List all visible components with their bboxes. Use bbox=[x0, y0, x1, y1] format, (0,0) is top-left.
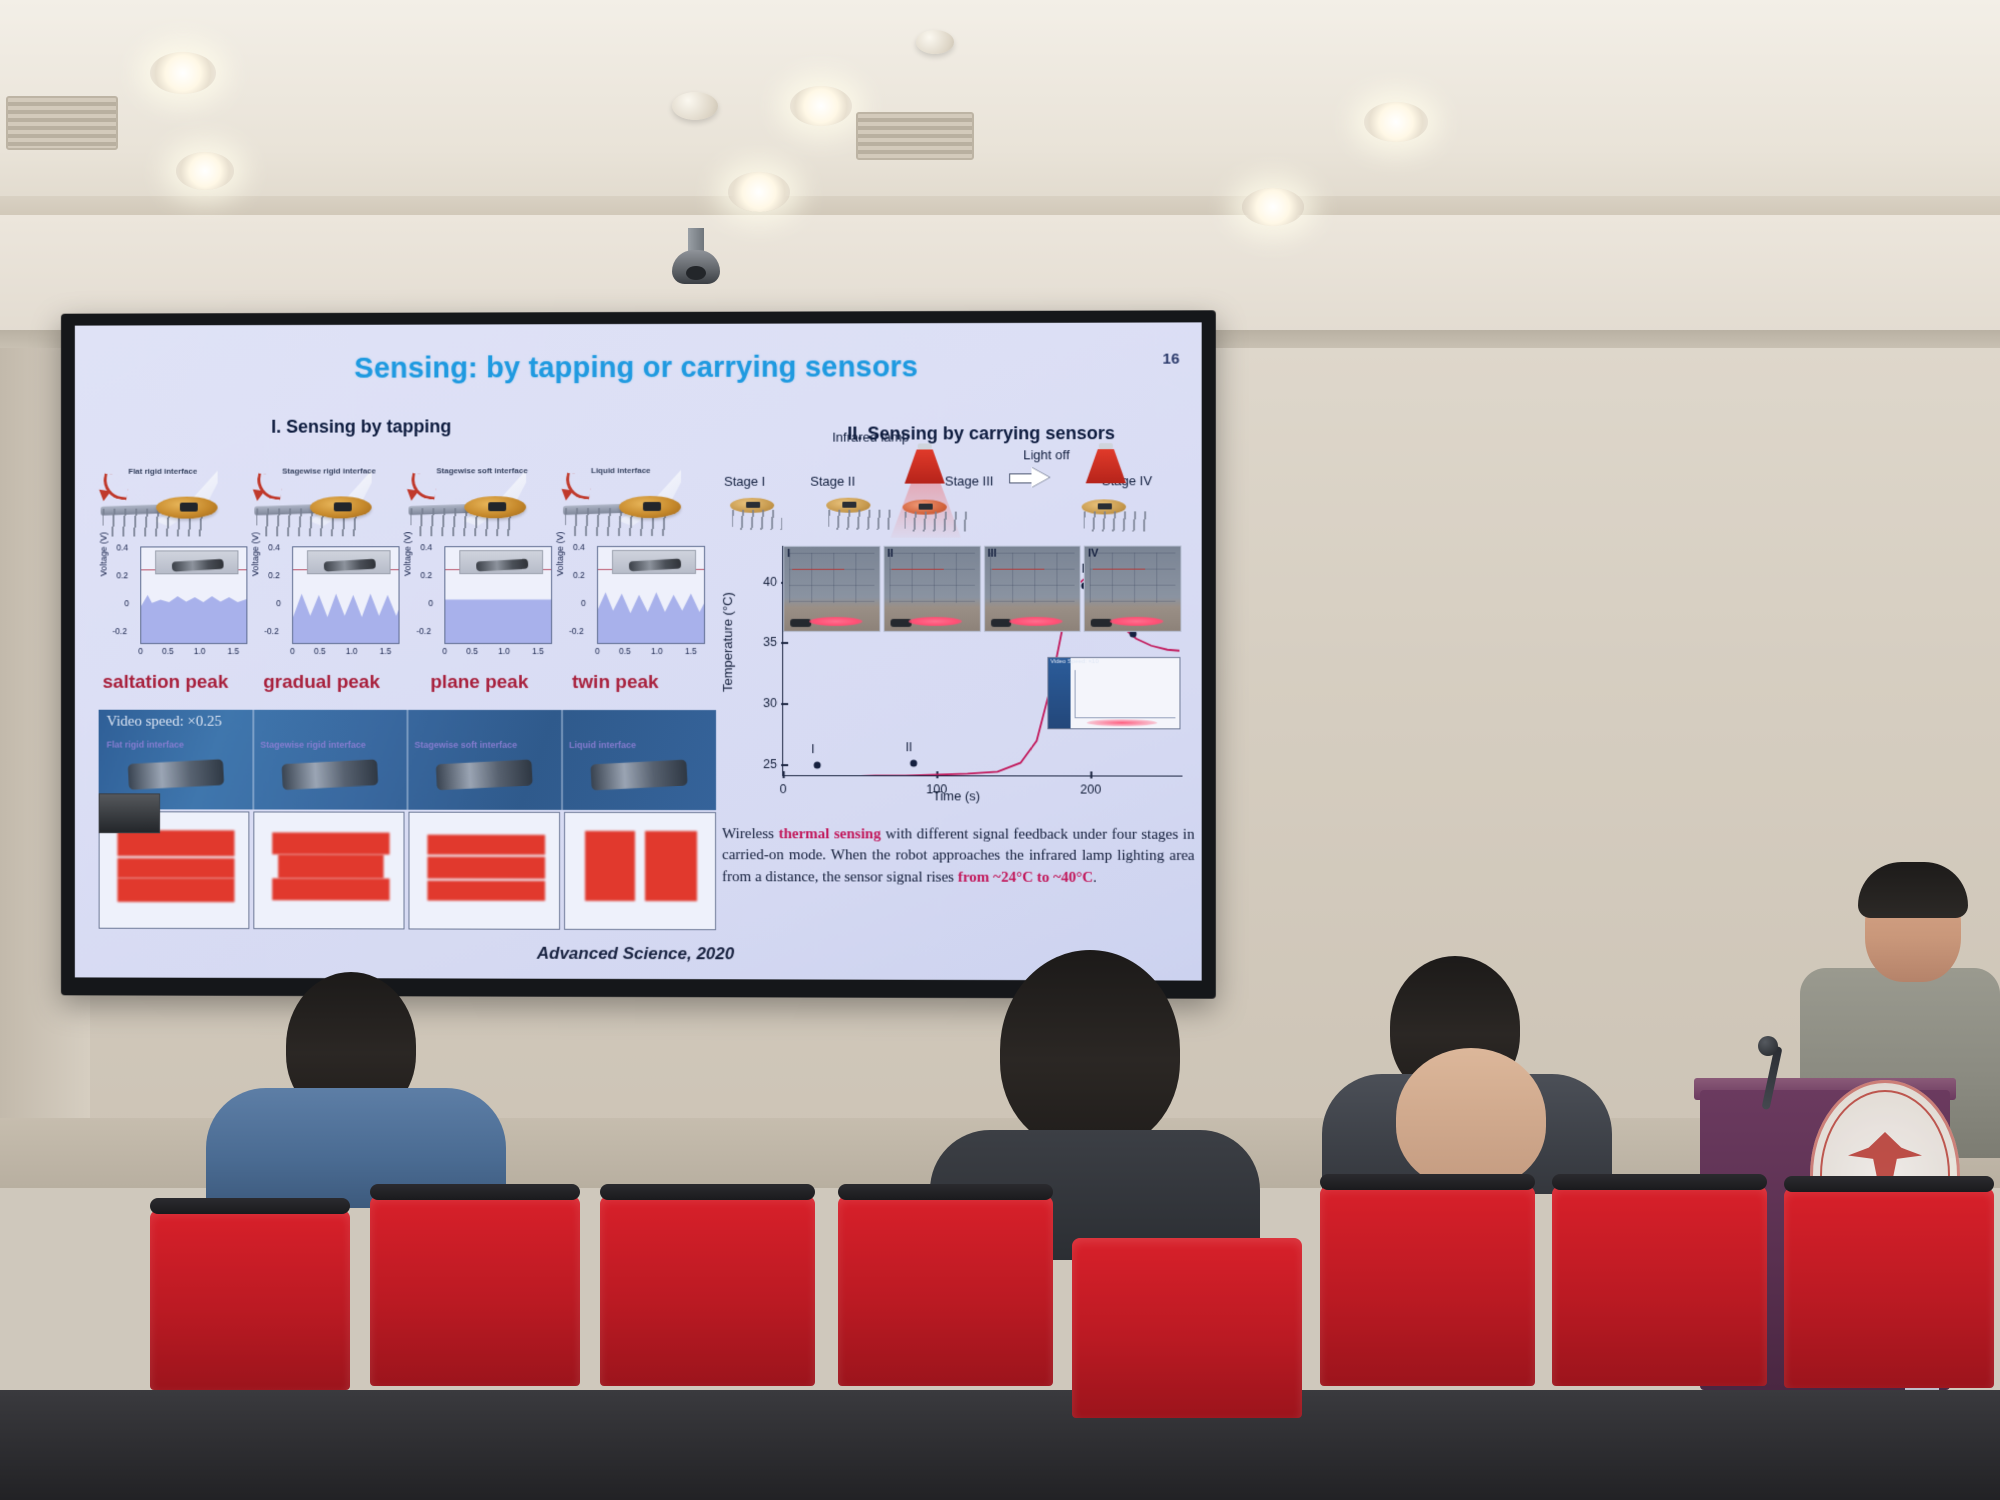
y-tick: -0.2 bbox=[264, 626, 279, 636]
speaker-glasses bbox=[1872, 912, 1954, 930]
y-tick-40: 40 bbox=[763, 575, 777, 589]
voltage-plot-box bbox=[140, 546, 247, 644]
video-robot-frame bbox=[436, 759, 533, 790]
y-tick: 0.2 bbox=[116, 570, 128, 580]
infrared-lamp-label: Infrared lamp bbox=[832, 429, 909, 444]
ceiling-light-4 bbox=[728, 172, 790, 212]
video-divider bbox=[252, 710, 254, 810]
ceiling-light-5 bbox=[1364, 102, 1428, 142]
schematic-caption: Stagewise rigid interface bbox=[282, 466, 376, 475]
section-heading-left: I. Sensing by tapping bbox=[271, 416, 451, 437]
y-tick-25: 25 bbox=[763, 757, 777, 771]
annotation-I: I bbox=[811, 742, 814, 756]
peak-label: twin peak bbox=[572, 672, 659, 694]
frame-grid bbox=[789, 553, 874, 603]
ceiling-light-1 bbox=[150, 52, 216, 94]
seat bbox=[1320, 1186, 1535, 1386]
description-paragraph: Wireless thermal sensing with different … bbox=[722, 824, 1195, 889]
voltage-plot-box bbox=[597, 546, 705, 644]
para-highlight-1: thermal sensing bbox=[779, 826, 881, 842]
heatmap-image bbox=[423, 825, 551, 909]
frame-trace bbox=[892, 569, 944, 571]
heatmap-row bbox=[99, 811, 716, 930]
voltage-envelope-line bbox=[293, 569, 399, 603]
infrared-lamp-icon bbox=[1086, 449, 1126, 483]
video-caption: Liquid interface bbox=[569, 740, 636, 750]
seat-top-bar bbox=[1320, 1174, 1535, 1190]
inset-video-speed-label: Video Speed: ×10 bbox=[1050, 659, 1098, 665]
heatmap-axis-note bbox=[117, 919, 118, 925]
drop-arrow-icon bbox=[409, 473, 438, 500]
robot-photo-inset bbox=[459, 550, 543, 574]
audience-head bbox=[1000, 950, 1180, 1150]
x-tick: 1.5 bbox=[380, 646, 392, 656]
drop-arrow-icon bbox=[101, 473, 130, 500]
video-speed-label: Video speed: ×0.25 bbox=[107, 714, 222, 731]
lamp-cap-icon bbox=[1099, 443, 1113, 449]
robot-schematic: Flat rigid interface bbox=[97, 465, 246, 543]
y-tick: 0.2 bbox=[420, 570, 432, 580]
y-tick: 0 bbox=[428, 598, 433, 608]
frame-grid bbox=[1090, 553, 1175, 603]
x-tick: 0 bbox=[290, 646, 295, 656]
thermal-frame: III bbox=[983, 546, 1080, 632]
x-tick: 1.5 bbox=[228, 646, 240, 656]
x-tick: 0 bbox=[595, 646, 600, 656]
robot-schematic: Stagewise rigid interface bbox=[250, 464, 399, 542]
robot-photo-inset bbox=[155, 550, 238, 574]
seat-row-background bbox=[0, 1390, 2000, 1500]
voltage-plot: Voltage (V) 0.4 0.2 0 -0.2 0 0.5 1.0 1.5 bbox=[559, 546, 707, 666]
x-tick-200: 200 bbox=[1080, 782, 1101, 796]
annotation-II: II bbox=[906, 740, 913, 754]
robot-chip-icon bbox=[842, 502, 856, 508]
video-divider bbox=[407, 710, 409, 810]
robot-legs-icon bbox=[905, 512, 967, 532]
heatmap-image bbox=[579, 825, 707, 909]
frame-grid bbox=[889, 553, 974, 603]
peak-label: gradual peak bbox=[263, 672, 380, 694]
thermal-frames-strip: I II bbox=[783, 545, 1181, 631]
robot-chip-icon bbox=[334, 502, 352, 511]
x-tick-100: 100 bbox=[926, 782, 947, 796]
x-tick: 1.5 bbox=[685, 646, 697, 656]
heatmap-plot bbox=[408, 812, 560, 930]
y-tick: 0.2 bbox=[573, 570, 585, 580]
smoke-detector-1 bbox=[672, 92, 718, 120]
stage-label-2: Stage II bbox=[810, 474, 855, 489]
voltage-plot: Voltage (V) 0.4 0.2 0 -0.2 0 0.5 1.0 1.5 bbox=[254, 546, 401, 666]
inset-curve-axes bbox=[1075, 670, 1176, 718]
citation: Advanced Science, 2020 bbox=[75, 943, 1202, 966]
microphone-icon bbox=[1758, 1036, 1778, 1056]
frame-robot bbox=[790, 619, 811, 627]
ceiling-vent-center bbox=[856, 112, 974, 160]
x-tick: 0.5 bbox=[314, 646, 326, 656]
smoke-detector-2 bbox=[916, 30, 954, 54]
seat-top-bar bbox=[838, 1184, 1053, 1200]
lamp-cap-icon bbox=[918, 443, 932, 449]
seat-top-bar bbox=[370, 1184, 580, 1200]
robot-legs-icon bbox=[732, 510, 782, 530]
thermal-frame: I bbox=[783, 546, 880, 632]
robot-chip-icon bbox=[488, 502, 506, 511]
inset-video-panel[interactable]: Video Speed: ×10 bbox=[1047, 657, 1180, 729]
frame-ir-glow bbox=[1110, 617, 1164, 626]
video-thumbnail[interactable] bbox=[99, 793, 160, 833]
frame-grid bbox=[990, 553, 1075, 603]
ceiling-vent-left bbox=[6, 96, 118, 150]
y-tick: 0 bbox=[124, 598, 129, 608]
x-tick: 1.0 bbox=[651, 646, 663, 656]
y-tick: -0.2 bbox=[569, 626, 584, 636]
seat-top-bar bbox=[600, 1184, 815, 1200]
heatmap-plot bbox=[564, 812, 716, 930]
video-robot-frame bbox=[590, 760, 687, 791]
x-tick: 0.5 bbox=[466, 646, 478, 656]
y-axis-label: Temperature (°C) bbox=[720, 592, 735, 692]
ceiling-light-2 bbox=[176, 152, 234, 190]
robot-legs-icon bbox=[828, 510, 890, 530]
light-off-label: Light off bbox=[1023, 447, 1069, 462]
data-point-I bbox=[814, 762, 821, 769]
data-point-II bbox=[910, 760, 917, 767]
y-tick: 0 bbox=[581, 598, 586, 608]
seat bbox=[838, 1196, 1053, 1386]
y-tick: 0.2 bbox=[268, 570, 280, 580]
video-caption: Stagewise rigid interface bbox=[260, 740, 365, 750]
heatmap-axis-note bbox=[272, 919, 273, 925]
voltage-plot-row: Voltage (V) 0.4 0.2 0 -0.2 0 0.5 1.0 1.5 bbox=[103, 546, 710, 666]
robot-chip-icon bbox=[746, 502, 760, 508]
video-robot-frame bbox=[282, 759, 379, 790]
robot-chip-icon bbox=[180, 503, 198, 512]
x-tick: 1.5 bbox=[532, 646, 544, 656]
drop-arrow-icon bbox=[564, 472, 593, 499]
frame-robot bbox=[1091, 619, 1112, 627]
schematic-caption: Flat rigid interface bbox=[128, 467, 197, 476]
robot-photo-inset bbox=[307, 550, 391, 574]
robot-chip-icon bbox=[1098, 503, 1112, 509]
para-text-1: Wireless bbox=[722, 826, 779, 842]
stage-label-1: Stage I bbox=[724, 474, 765, 489]
y-tick: -0.2 bbox=[112, 626, 127, 636]
seat bbox=[1784, 1188, 1994, 1388]
seat bbox=[370, 1196, 580, 1386]
seat-top-bar bbox=[1552, 1174, 1767, 1190]
y-tick: 0.4 bbox=[573, 542, 585, 552]
ceiling-light-3 bbox=[790, 86, 852, 126]
seat bbox=[600, 1196, 815, 1386]
voltage-axis-label: Voltage (V) bbox=[250, 510, 260, 576]
camera-lens-icon bbox=[686, 266, 706, 280]
robot-chip-icon bbox=[643, 502, 661, 511]
stage-diagram-row: Infrared lamp Light off Stage I Stage II… bbox=[722, 451, 1195, 534]
y-tick: -0.2 bbox=[416, 626, 431, 636]
robot-schematic: Stagewise soft interface bbox=[405, 464, 555, 542]
transition-arrow-icon bbox=[1009, 469, 1051, 485]
seat-top-bar bbox=[1784, 1176, 1994, 1192]
x-tick: 0 bbox=[442, 646, 447, 656]
thermal-frame: II bbox=[883, 546, 980, 632]
para-text-3: . bbox=[1093, 869, 1097, 885]
voltage-axis-label: Voltage (V) bbox=[403, 510, 413, 576]
peak-label: saltation peak bbox=[103, 672, 229, 694]
heatmap-axis-note bbox=[583, 920, 584, 926]
drop-arrow-icon bbox=[255, 473, 284, 500]
schematic-caption: Liquid interface bbox=[591, 466, 651, 475]
heatmap-image bbox=[268, 824, 395, 908]
peak-label: plane peak bbox=[430, 672, 528, 694]
frame-ir-glow bbox=[909, 617, 962, 626]
y-tick-30: 30 bbox=[763, 696, 777, 710]
x-tick-0: 0 bbox=[780, 782, 787, 796]
ceiling-light-6 bbox=[1242, 188, 1304, 226]
heatmap-plot bbox=[253, 811, 404, 929]
voltage-envelope-line bbox=[445, 569, 552, 603]
ceiling bbox=[0, 0, 2000, 215]
inset-video-sidebar bbox=[1048, 658, 1070, 728]
heatmap-image bbox=[113, 824, 240, 908]
frame-ir-glow bbox=[1009, 617, 1062, 626]
seat bbox=[150, 1210, 350, 1390]
x-tick: 1.0 bbox=[346, 646, 358, 656]
y-tick: 0.4 bbox=[420, 542, 432, 552]
heatmap-axis-note bbox=[427, 920, 428, 926]
robot-photo-inset bbox=[612, 550, 696, 574]
frame-trace bbox=[1093, 568, 1146, 570]
infrared-lamp-icon bbox=[905, 449, 945, 483]
robot-chip-icon bbox=[919, 504, 933, 510]
x-tick: 0.5 bbox=[619, 646, 631, 656]
audience-head bbox=[1396, 1048, 1546, 1188]
page-title: Sensing: by tapping or carrying sensors bbox=[75, 351, 1202, 387]
video-clip-strip[interactable]: Video speed: ×0.25 Flat rigid interface … bbox=[99, 710, 716, 810]
inset-ir-glow bbox=[1087, 719, 1158, 726]
seat-top-bar bbox=[150, 1198, 350, 1214]
y-tick-35: 35 bbox=[763, 635, 777, 649]
presentation-slide: Sensing: by tapping or carrying sensors … bbox=[75, 322, 1202, 980]
scene-root: Sensing: by tapping or carrying sensors … bbox=[0, 0, 2000, 1500]
frame-ir-glow bbox=[809, 617, 862, 626]
voltage-plot-box bbox=[444, 546, 552, 644]
temperature-chart: Temperature (°C) Time (s) 25 30 35 40 0 … bbox=[722, 541, 1195, 810]
x-tick: 0.5 bbox=[162, 646, 174, 656]
chart-plot-area: 25 30 35 40 0 100 200 I II bbox=[782, 545, 1182, 776]
stage-label-3: Stage III bbox=[945, 473, 994, 488]
video-divider bbox=[561, 710, 563, 810]
y-tick: 0.4 bbox=[268, 542, 280, 552]
robot-legs-icon bbox=[1084, 511, 1147, 531]
schematic-caption: Stagewise soft interface bbox=[436, 466, 527, 475]
voltage-plot: Voltage (V) 0.4 0.2 0 -0.2 0 0.5 1.0 1.5 bbox=[407, 546, 555, 666]
projection-screen-frame: Sensing: by tapping or carrying sensors … bbox=[61, 310, 1216, 998]
video-caption: Stagewise soft interface bbox=[414, 740, 517, 750]
peak-label-row: saltation peak gradual peak plane peak t… bbox=[97, 672, 714, 700]
voltage-plot-box bbox=[292, 546, 399, 644]
voltage-plot: Voltage (V) 0.4 0.2 0 -0.2 0 0.5 1.0 1.5 bbox=[103, 546, 250, 666]
video-robot-frame bbox=[128, 759, 224, 790]
y-tick: 0.4 bbox=[116, 542, 128, 552]
slide-number: 16 bbox=[1163, 351, 1180, 368]
para-highlight-2: from ~24°C to ~40°C bbox=[958, 869, 1093, 885]
y-tick: 0 bbox=[276, 598, 281, 608]
frame-trace bbox=[992, 569, 1044, 571]
seat bbox=[1072, 1238, 1302, 1418]
voltage-envelope-line bbox=[141, 569, 247, 603]
x-tick: 0 bbox=[138, 646, 143, 656]
frame-trace bbox=[792, 569, 844, 571]
x-tick: 1.0 bbox=[498, 646, 510, 656]
voltage-axis-label: Voltage (V) bbox=[555, 510, 565, 576]
x-tick: 1.0 bbox=[194, 646, 206, 656]
voltage-axis-label: Voltage (V) bbox=[99, 511, 109, 577]
seat bbox=[1552, 1186, 1767, 1386]
voltage-envelope-line bbox=[598, 569, 705, 603]
thermal-frame: IV bbox=[1084, 545, 1182, 631]
robot-schematic: Liquid interface bbox=[559, 464, 709, 542]
video-caption: Flat rigid interface bbox=[107, 740, 184, 750]
